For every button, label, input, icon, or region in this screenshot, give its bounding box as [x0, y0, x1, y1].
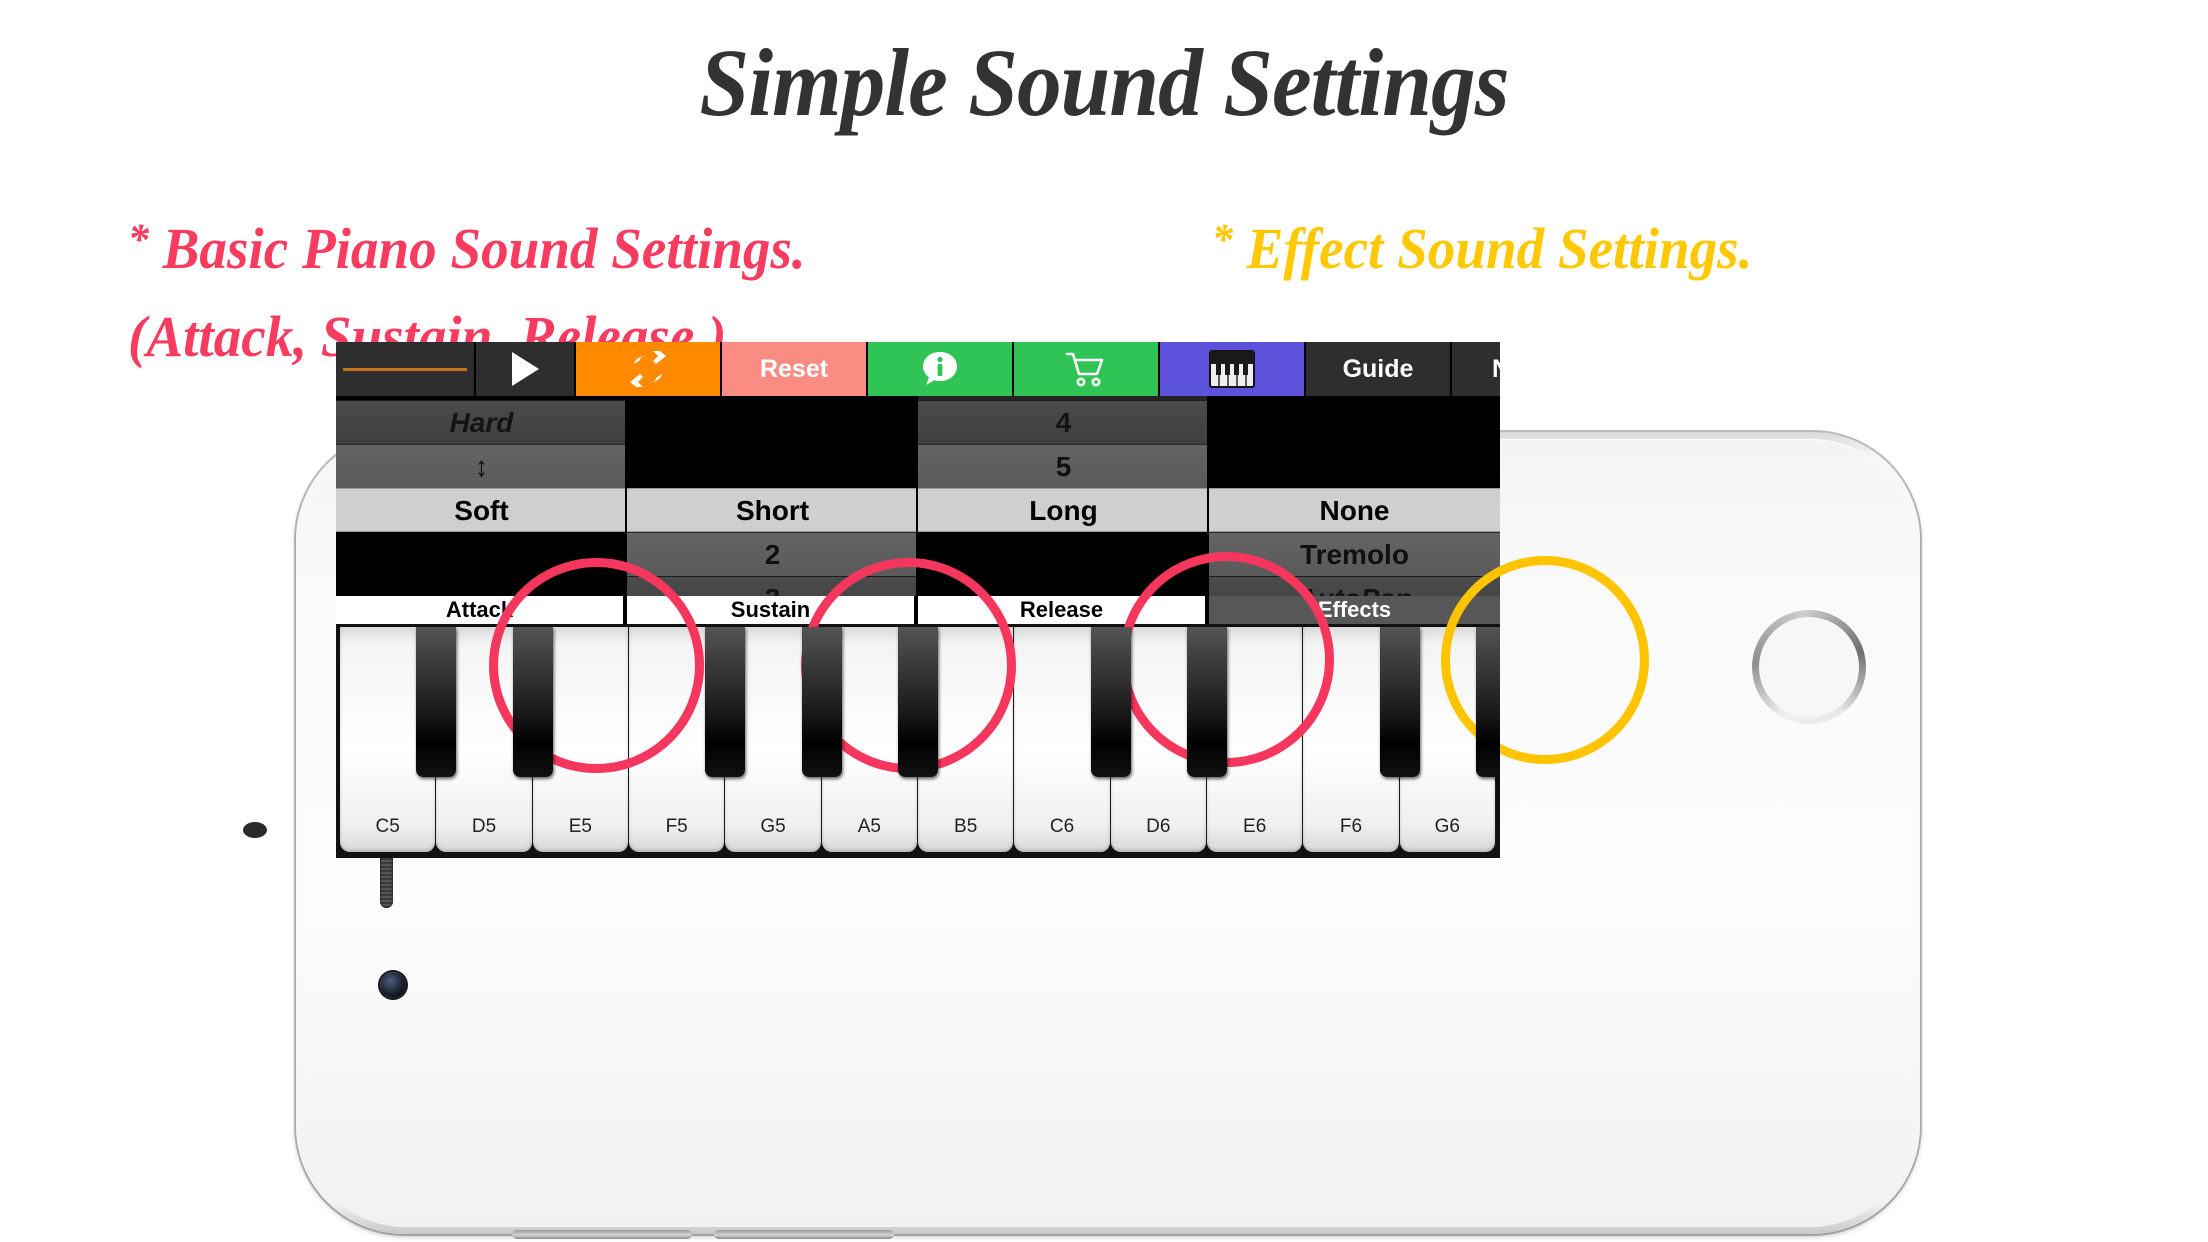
piano-key-label: D6	[1111, 816, 1206, 838]
loop-arrows-icon	[628, 351, 668, 387]
picker-release[interactable]: 3 4 5 Long	[918, 396, 1209, 596]
piano-key-label: G5	[725, 816, 820, 838]
poster-root: Simple Sound Settings * Basic Piano Soun…	[0, 0, 2208, 1242]
picker-release-option[interactable]: 4	[918, 400, 1209, 444]
picker-sustain-selected[interactable]: Short	[627, 488, 918, 532]
guide-button-label: Guide	[1343, 355, 1414, 384]
picker-release-selected[interactable]: Long	[918, 488, 1209, 532]
store-button[interactable]	[1014, 342, 1160, 396]
piano-black-key[interactable]	[705, 627, 745, 777]
page-title: Simple Sound Settings	[77, 28, 2130, 138]
picker-release-blank	[918, 532, 1209, 576]
play-button[interactable]	[476, 342, 576, 396]
picker-effects-option[interactable]: AutoPan	[1209, 576, 1500, 596]
piano-black-key[interactable]	[1380, 627, 1420, 777]
slider-line-icon	[343, 368, 467, 371]
picker-effects-selected[interactable]: None	[1209, 488, 1500, 532]
picker-sustain-option[interactable]: 2	[627, 532, 918, 576]
volume-down-button[interactable]	[714, 1230, 894, 1239]
piano-key-label: C5	[340, 816, 435, 838]
asterisk-right: *	[1212, 215, 1233, 264]
picker-sustain-option[interactable]: 3	[627, 576, 918, 596]
picker-attack-option[interactable]: ↕	[336, 444, 627, 488]
piano-black-key[interactable]	[898, 627, 938, 777]
shopping-cart-icon	[1065, 350, 1107, 388]
front-camera	[380, 972, 406, 998]
piano-black-key[interactable]	[1187, 627, 1227, 777]
subtitle-effect-sound: * Effect Sound Settings.	[1212, 196, 1752, 293]
picker-attack-option[interactable]: Hard	[336, 400, 627, 444]
reset-button-label: Reset	[760, 355, 828, 384]
piano-key-label: F6	[1303, 816, 1398, 838]
subtitle-effect-sound-line1: Effect Sound Settings.	[1247, 216, 1753, 281]
piano-key-label: G6	[1400, 816, 1495, 838]
proximity-sensor	[243, 822, 267, 838]
picker-sustain[interactable]: Short 2 3 4	[627, 396, 918, 596]
app-screen: Reset	[336, 342, 1500, 858]
asterisk-left: *	[128, 215, 149, 264]
piano-black-key[interactable]	[1091, 627, 1131, 777]
picker-attack[interactable]: Hard ↕ Soft	[336, 396, 627, 596]
info-bubble-icon	[920, 349, 960, 389]
keyboard-button[interactable]	[1160, 342, 1306, 396]
reset-button[interactable]: Reset	[722, 342, 868, 396]
piano-keys-icon	[1209, 350, 1255, 388]
picker-attack-blank	[336, 576, 627, 596]
piano-black-key[interactable]	[513, 627, 553, 777]
piano-black-key[interactable]	[416, 627, 456, 777]
piano-keys-container: C5D5E5F5G5A5B5C6D6E6F6G6	[340, 627, 1496, 852]
loop-button[interactable]	[576, 342, 722, 396]
piano-black-key[interactable]	[802, 627, 842, 777]
picker-labels: Attack Sustain Release Effects	[336, 596, 1500, 624]
volume-slider[interactable]	[336, 342, 476, 396]
guide-button[interactable]: Guide	[1306, 342, 1452, 396]
label-sustain: Sustain	[627, 596, 918, 624]
piano-key-label: D5	[436, 816, 531, 838]
picker-row: Hard ↕ Soft Short 2 3 4 3	[336, 396, 1500, 596]
name-button-label: Name	[1492, 355, 1500, 384]
picker-attack-blank	[336, 532, 627, 576]
piano-keyboard: C5D5E5F5G5A5B5C6D6E6F6G6	[336, 624, 1500, 858]
picker-release-blank	[918, 576, 1209, 596]
piano-key-label: C6	[1014, 816, 1109, 838]
picker-effects-option[interactable]: Tremolo	[1209, 532, 1500, 576]
label-attack: Attack	[336, 596, 627, 624]
piano-black-key[interactable]	[1476, 627, 1500, 777]
name-button[interactable]: Name	[1452, 342, 1500, 396]
piano-key-label: E6	[1207, 816, 1302, 838]
subtitle-basic-piano-line1: Basic Piano Sound Settings.	[163, 216, 806, 281]
picker-release-option[interactable]: 5	[918, 444, 1209, 488]
piano-key-label: A5	[822, 816, 917, 838]
app-toolbar: Reset	[336, 342, 1500, 396]
home-button[interactable]	[1752, 610, 1866, 724]
piano-key-label: F5	[629, 816, 724, 838]
play-triangle-icon	[512, 352, 539, 386]
info-button[interactable]	[868, 342, 1014, 396]
picker-effects[interactable]: None Tremolo AutoPan Sporth	[1209, 396, 1500, 596]
picker-attack-selected[interactable]: Soft	[336, 488, 627, 532]
piano-key-label: E5	[533, 816, 628, 838]
piano-key-label: B5	[918, 816, 1013, 838]
label-release: Release	[918, 596, 1209, 624]
label-effects: Effects	[1209, 596, 1500, 624]
volume-up-button[interactable]	[512, 1230, 692, 1239]
